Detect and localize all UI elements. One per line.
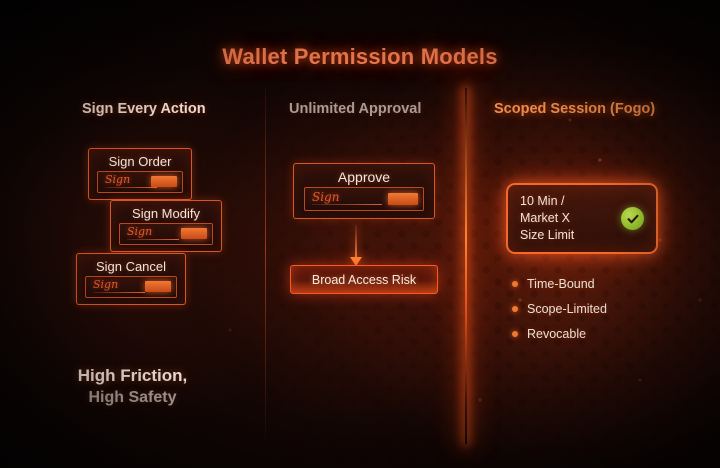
benefit-label: Scope-Limited — [527, 302, 607, 316]
signature-script-text: Sign — [105, 173, 130, 186]
scoped-session-constraints: 10 Min / Market X Size Limit — [520, 193, 574, 244]
approve-confirm-button[interactable] — [388, 193, 418, 205]
scope-line-size: Size Limit — [520, 227, 574, 244]
sign-confirm-button[interactable] — [145, 281, 171, 292]
column-divider-right — [465, 88, 467, 444]
scope-line-market: Market X — [520, 210, 574, 227]
broad-access-risk-label: Broad Access Risk — [312, 273, 416, 287]
card-sign-order-title: Sign Order — [89, 154, 191, 169]
column-heading-scoped-session: Scoped Session (Fogo) — [494, 101, 655, 117]
page-title: Wallet Permission Models — [0, 44, 720, 70]
footer-line-high-safety: High Safety — [0, 389, 265, 407]
benefit-item-revocable: Revocable — [512, 321, 607, 346]
scoped-session-benefits-list: Time-Bound Scope-Limited Revocable — [512, 271, 607, 346]
card-sign-order[interactable]: Sign Order Sign — [88, 148, 192, 200]
bullet-dot-icon — [512, 331, 518, 337]
signature-field-approve[interactable]: Sign — [304, 187, 424, 211]
bullet-dot-icon — [512, 281, 518, 287]
signature-stroke — [93, 292, 145, 293]
card-sign-modify-title: Sign Modify — [111, 206, 221, 221]
column-heading-unlimited-approval: Unlimited Approval — [289, 101, 421, 117]
signature-field-modify[interactable]: Sign — [119, 223, 213, 245]
column-divider-left — [265, 88, 266, 444]
benefit-label: Revocable — [527, 327, 586, 341]
bullet-dot-icon — [512, 306, 518, 312]
sign-confirm-button[interactable] — [181, 228, 207, 239]
column-1-footer: High Friction, High Safety — [0, 366, 265, 407]
footer-line-high-friction: High Friction, — [0, 366, 265, 386]
column-heading-sign-every-action: Sign Every Action — [82, 101, 206, 117]
signature-script-text: Sign — [312, 190, 339, 204]
benefit-item-time-bound: Time-Bound — [512, 271, 607, 296]
card-sign-cancel-title: Sign Cancel — [77, 259, 185, 274]
broad-access-risk-badge: Broad Access Risk — [290, 265, 438, 294]
card-approve[interactable]: Approve Sign — [293, 163, 435, 219]
signature-field-cancel[interactable]: Sign — [85, 276, 177, 298]
card-sign-modify[interactable]: Sign Modify Sign — [110, 200, 222, 252]
slide-canvas: Wallet Permission Models Sign Every Acti… — [0, 0, 720, 468]
signature-stroke — [312, 204, 382, 205]
benefit-item-scope-limited: Scope-Limited — [512, 296, 607, 321]
card-scoped-session[interactable]: 10 Min / Market X Size Limit — [506, 183, 658, 254]
card-sign-cancel[interactable]: Sign Cancel Sign — [76, 253, 186, 305]
signature-script-text: Sign — [127, 225, 152, 238]
check-circle-icon — [621, 207, 644, 230]
signature-field-order[interactable]: Sign — [97, 171, 183, 193]
benefit-label: Time-Bound — [527, 277, 595, 291]
signature-script-text: Sign — [93, 278, 118, 291]
sign-confirm-button[interactable] — [151, 176, 177, 187]
signature-stroke — [127, 239, 179, 240]
scope-line-duration: 10 Min / — [520, 193, 574, 210]
card-approve-title: Approve — [294, 169, 434, 185]
signature-stroke — [105, 187, 157, 188]
arrow-down-icon — [355, 225, 357, 259]
